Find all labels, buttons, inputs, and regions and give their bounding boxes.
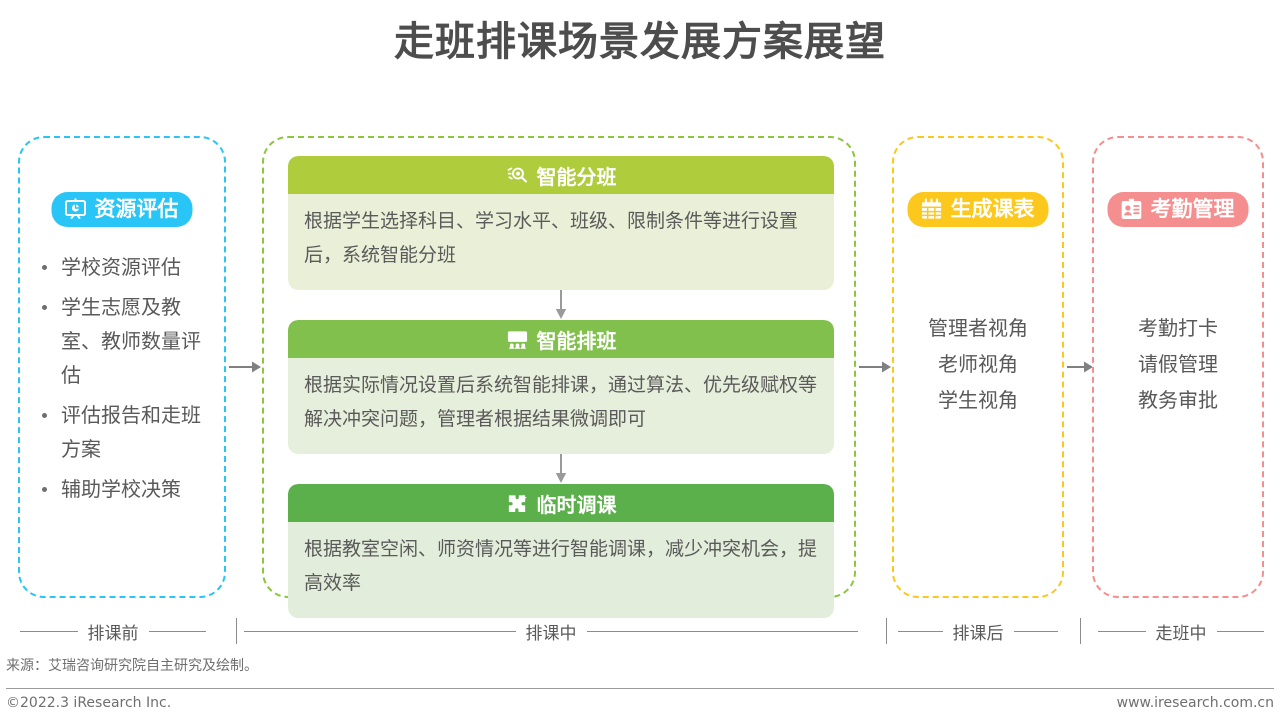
list-item: 学校资源评估 (36, 250, 212, 284)
copyright-text: ©2022.3 iResearch Inc. (6, 695, 171, 711)
card-temporary-adjustment: 临时调课 根据教室空闲、师资情况等进行智能调课，减少冲突机会，提高效率 (288, 484, 834, 618)
panel-attendance-management: 考勤管理 考勤打卡 请假管理 教务审批 (1092, 136, 1264, 598)
card-title: 智能排班 (537, 325, 617, 354)
card-title: 临时调课 (537, 489, 617, 518)
phase-label: 排课后 (953, 619, 1004, 644)
list-item: 辅助学校决策 (36, 472, 212, 506)
list-item: 学生视角 (894, 382, 1062, 418)
diagram-area: 资源评估 学校资源评估 学生志愿及教室、教师数量评估 评估报告和走班方案 辅助学… (0, 136, 1280, 606)
phase-in-class-rotation: 走班中 (1098, 610, 1264, 652)
legend-separator (236, 618, 237, 644)
card-intelligent-class-division: 智能分班 根据学生选择科目、学习水平、班级、限制条件等进行设置后，系统智能分班 (288, 156, 834, 290)
card-title: 智能分班 (537, 161, 617, 190)
page-footer: ©2022.3 iResearch Inc. www.iresearch.com… (6, 695, 1274, 711)
presentation-chart-icon (64, 197, 88, 221)
legend-rule (20, 631, 78, 632)
card-header: 智能分班 (288, 156, 834, 194)
page-title: 走班排课场景发展方案展望 (0, 14, 1280, 70)
badge-resource-label: 资源评估 (95, 197, 179, 221)
website-url: www.iresearch.com.cn (1117, 695, 1274, 711)
legend-rule (244, 631, 516, 632)
legend-rule (1098, 631, 1146, 632)
phase-label: 排课中 (526, 619, 577, 644)
badge-schedule-label: 生成课表 (951, 197, 1035, 221)
card-stack: 智能分班 根据学生选择科目、学习水平、班级、限制条件等进行设置后，系统智能分班 (288, 156, 834, 618)
phase-label: 走班中 (1156, 619, 1207, 644)
source-note: 来源：艾瑞咨询研究院自主研究及绘制。 (6, 655, 258, 675)
list-item: 学生志愿及教室、教师数量评估 (36, 290, 212, 392)
legend-separator (886, 618, 887, 644)
card-header: 临时调课 (288, 484, 834, 522)
legend-rule (587, 631, 859, 632)
legend-rule (1217, 631, 1265, 632)
list-item: 评估报告和走班方案 (36, 398, 212, 466)
legend-rule (898, 631, 943, 632)
list-item: 管理者视角 (894, 310, 1062, 346)
footer-divider (6, 688, 1274, 689)
phase-after-scheduling: 排课后 (898, 610, 1058, 652)
list-item: 请假管理 (1094, 346, 1262, 382)
badge-resource-assessment: 资源评估 (52, 192, 193, 227)
card-body: 根据学生选择科目、学习水平、班级、限制条件等进行设置后，系统智能分班 (288, 194, 834, 290)
panel-scheduling-core: 智能分班 根据学生选择科目、学习水平、班级、限制条件等进行设置后，系统智能分班 (262, 136, 856, 598)
legend-rule (1014, 631, 1059, 632)
generate-timetable-list: 管理者视角 老师视角 学生视角 (894, 310, 1062, 418)
calendar-icon (920, 197, 944, 221)
legend-separator (1080, 618, 1081, 644)
infographic-page: 走班排课场景发展方案展望 资源评估 学校资源评估 学生志愿及教室、教师 (0, 0, 1280, 728)
card-body: 根据实际情况设置后系统智能排课，通过算法、优先级赋权等解决冲突问题，管理者根据结… (288, 358, 834, 454)
arrow-card1-to-card2 (288, 290, 834, 320)
arrow-card2-to-card3 (288, 454, 834, 484)
panel-generate-timetable: 生成课表 管理者视角 老师视角 学生视角 (892, 136, 1064, 598)
arrow-schedule-to-attendance (1066, 360, 1094, 374)
phase-during-scheduling: 排课中 (244, 610, 858, 652)
people-group-icon (506, 164, 529, 187)
id-card-icon (1120, 197, 1144, 221)
badge-attendance-label: 考勤管理 (1151, 197, 1235, 221)
phase-label: 排课前 (88, 619, 139, 644)
badge-attendance-management: 考勤管理 (1108, 192, 1249, 227)
list-item: 考勤打卡 (1094, 310, 1262, 346)
card-header: 智能排班 (288, 320, 834, 358)
resource-assessment-list: 学校资源评估 学生志愿及教室、教师数量评估 评估报告和走班方案 辅助学校决策 (36, 250, 212, 512)
phase-legend: 排课前 排课中 排课后 走班中 (0, 610, 1280, 652)
phase-before-scheduling: 排课前 (20, 610, 206, 652)
list-item: 教务审批 (1094, 382, 1262, 418)
card-intelligent-scheduling: 智能排班 根据实际情况设置后系统智能排课，通过算法、优先级赋权等解决冲突问题，管… (288, 320, 834, 454)
arrow-resource-to-center (228, 360, 262, 374)
legend-rule (149, 631, 207, 632)
panel-resource-assessment: 资源评估 学校资源评估 学生志愿及教室、教师数量评估 评估报告和走班方案 辅助学… (18, 136, 226, 598)
list-item: 老师视角 (894, 346, 1062, 382)
card-body: 根据教室空闲、师资情况等进行智能调课，减少冲突机会，提高效率 (288, 522, 834, 618)
badge-generate-timetable: 生成课表 (908, 192, 1049, 227)
classroom-board-icon (506, 328, 529, 351)
attendance-management-list: 考勤打卡 请假管理 教务审批 (1094, 310, 1262, 418)
puzzle-piece-icon (506, 492, 529, 515)
arrow-center-to-schedule (858, 360, 892, 374)
